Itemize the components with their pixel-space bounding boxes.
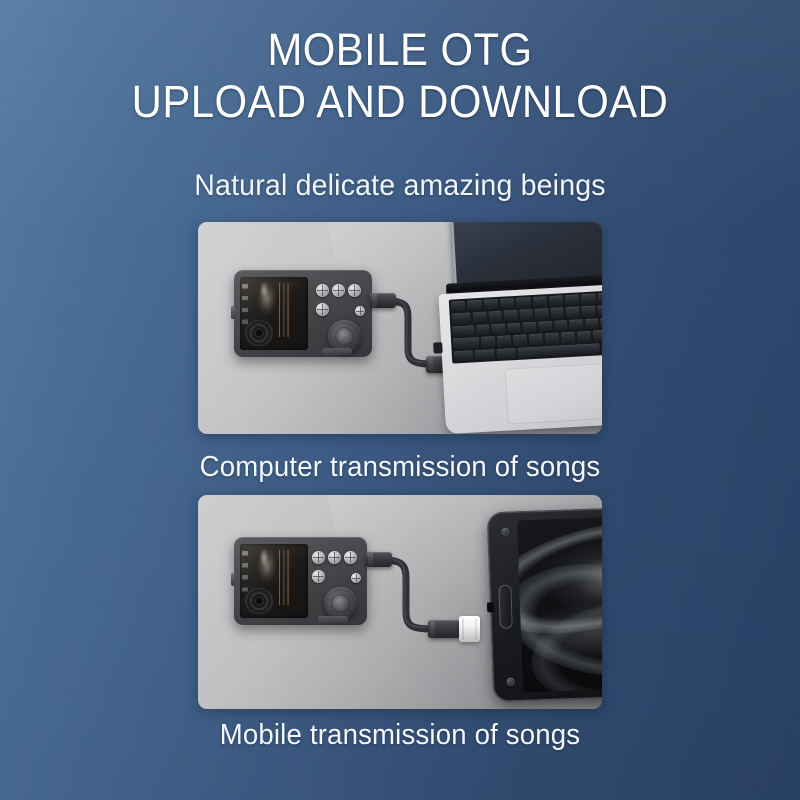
phone-wallpaper-swirl [517,515,602,654]
smartphone-device [487,506,602,703]
product-banner: MOBILE OTG UPLOAD AND DOWNLOAD Natural d… [0,0,800,800]
laptop-device [430,222,602,434]
laptop-trackpad [505,362,602,424]
photo-panel-mobile [198,495,602,709]
mp3-button-3 [348,284,361,297]
phone-screen [517,515,602,692]
mp3-button-1 [312,551,325,564]
mp3-screen [240,277,308,350]
mp3-button-1 [316,284,329,297]
usb-connector-device-end [370,293,396,308]
mp3-screen-glare [240,544,308,618]
mp3-side-button [231,573,235,586]
mp3-button-3 [344,551,357,564]
mp3-button-4 [312,570,325,583]
mp3-player-device [234,270,372,357]
usb-connector-adapter-end [428,620,460,638]
phone-charging-port [487,602,494,612]
phone-camera-icon [501,528,509,536]
mp3-screen [240,544,308,618]
mp3-button-4 [316,303,329,316]
headline-line-2: UPLOAD AND DOWNLOAD [28,76,772,128]
mp3-side-button [231,306,235,319]
connector-collar [430,620,435,638]
headline-line-1: MOBILE OTG [28,24,772,76]
otg-adapter [459,616,480,642]
phone-wallpaper-swirl [517,552,602,689]
photo-panel-computer [198,222,602,434]
mp3-base-foot [318,616,348,623]
mp3-screen-glare [240,277,308,350]
headline-block: MOBILE OTG UPLOAD AND DOWNLOAD [0,24,800,128]
laptop-usb-port [433,342,443,353]
mp3-button-2 [332,284,345,297]
mp3-player-device [234,537,367,625]
connector-collar [368,552,373,567]
usb-connector-device-end [366,552,392,567]
connector-collar [372,293,377,308]
mp3-button-5 [351,573,361,583]
phone-home-button [498,585,513,629]
phone-sensor-icon [507,678,515,686]
subtitle: Natural delicate amazing beings [20,168,780,204]
caption-computer: Computer transmission of songs [20,450,780,484]
laptop-keyboard [449,288,602,364]
caption-mobile: Mobile transmission of songs [20,718,780,752]
phone-wallpaper-swirl [525,590,602,692]
mp3-base-foot [322,348,352,355]
connector-collar [428,356,433,373]
mp3-button-5 [355,306,365,316]
mp3-button-2 [328,551,341,564]
